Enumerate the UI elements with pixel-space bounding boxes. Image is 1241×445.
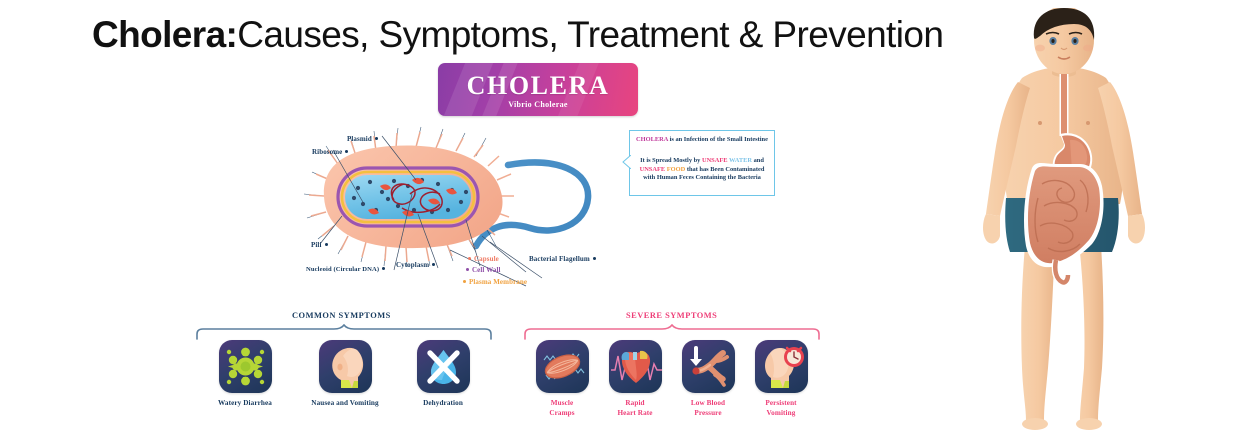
callout-pointer-icon [622, 155, 631, 169]
page-title-rest: Causes, Symptoms, Treatment & Prevention [237, 14, 943, 55]
symptom-label: RapidHeart Rate [595, 399, 675, 418]
cholera-banner: CHOLERA Vibrio Cholerae [438, 63, 638, 116]
label-bacterial-flagellum: Bacterial Flagellum [529, 255, 596, 263]
common-symptoms-bracket [196, 324, 492, 340]
callout-paragraph-2: It is Spread Mostly by UNSAFE WATER and … [635, 157, 769, 183]
label-capsule: Capsule [468, 255, 499, 263]
label-pili: Pili [311, 241, 328, 249]
right-hand [1128, 214, 1145, 243]
callout-paragraph-1: CHOLERA is an Infection of the Small Int… [635, 136, 769, 145]
human-figure [960, 8, 1170, 438]
info-callout: CHOLERA is an Infection of the Small Int… [629, 130, 775, 196]
page-title: Cholera:Causes, Symptoms, Treatment & Pr… [92, 12, 952, 57]
head-clock-icon [755, 340, 808, 393]
symptom-muscle-cramps[interactable]: MuscleCramps [522, 340, 602, 418]
symptom-dehydration[interactable]: Dehydration [403, 340, 483, 409]
symptom-watery-diarrhea[interactable]: Watery Diarrhea [205, 340, 285, 409]
label-cell-wall: Cell Wall [466, 266, 501, 274]
infographic-canvas: Cholera:Causes, Symptoms, Treatment & Pr… [0, 0, 1241, 445]
page-title-bold: Cholera: [92, 14, 237, 55]
banner-title: CHOLERA [438, 71, 638, 101]
banner-subtitle: Vibrio Cholerae [438, 100, 638, 109]
human-figure-svg [960, 8, 1170, 438]
symptom-label: Nausea and Vomiting [305, 399, 385, 409]
symptom-label: MuscleCramps [522, 399, 602, 418]
severe-symptoms-bracket [524, 324, 820, 340]
heart-ecg-icon [609, 340, 662, 393]
symptom-nausea-vomiting[interactable]: Nausea and Vomiting [305, 340, 385, 409]
symptom-low-blood-pressure[interactable]: Low BloodPressure [668, 340, 748, 418]
symptom-persistent-vomiting[interactable]: PersistentVomiting [741, 340, 821, 418]
symptom-label: Low BloodPressure [668, 399, 748, 418]
label-cytoplasm: Cytoplasm [396, 261, 435, 269]
left-hand [983, 214, 1000, 243]
common-symptoms-heading: COMMON SYMPTOMS [292, 311, 391, 320]
label-plasma-membrane: Plasma Membrane [463, 278, 527, 286]
label-ribosome: Ribosome [312, 148, 348, 156]
blood-vessel-arrow-icon [682, 340, 735, 393]
symptom-label: Watery Diarrhea [205, 399, 285, 409]
head-nausea-icon [319, 340, 372, 393]
symptom-label: PersistentVomiting [741, 399, 821, 418]
water-drop-cross-icon [417, 340, 470, 393]
splat-icon [219, 340, 272, 393]
symptom-label: Dehydration [403, 399, 483, 409]
muscle-icon [536, 340, 589, 393]
symptom-rapid-heart-rate[interactable]: RapidHeart Rate [595, 340, 675, 418]
label-nucleoid: Nucleoid (Circular DNA) [306, 266, 385, 273]
severe-symptoms-heading: SEVERE SYMPTOMS [626, 311, 717, 320]
label-plasmid: Plasmid [347, 135, 378, 143]
